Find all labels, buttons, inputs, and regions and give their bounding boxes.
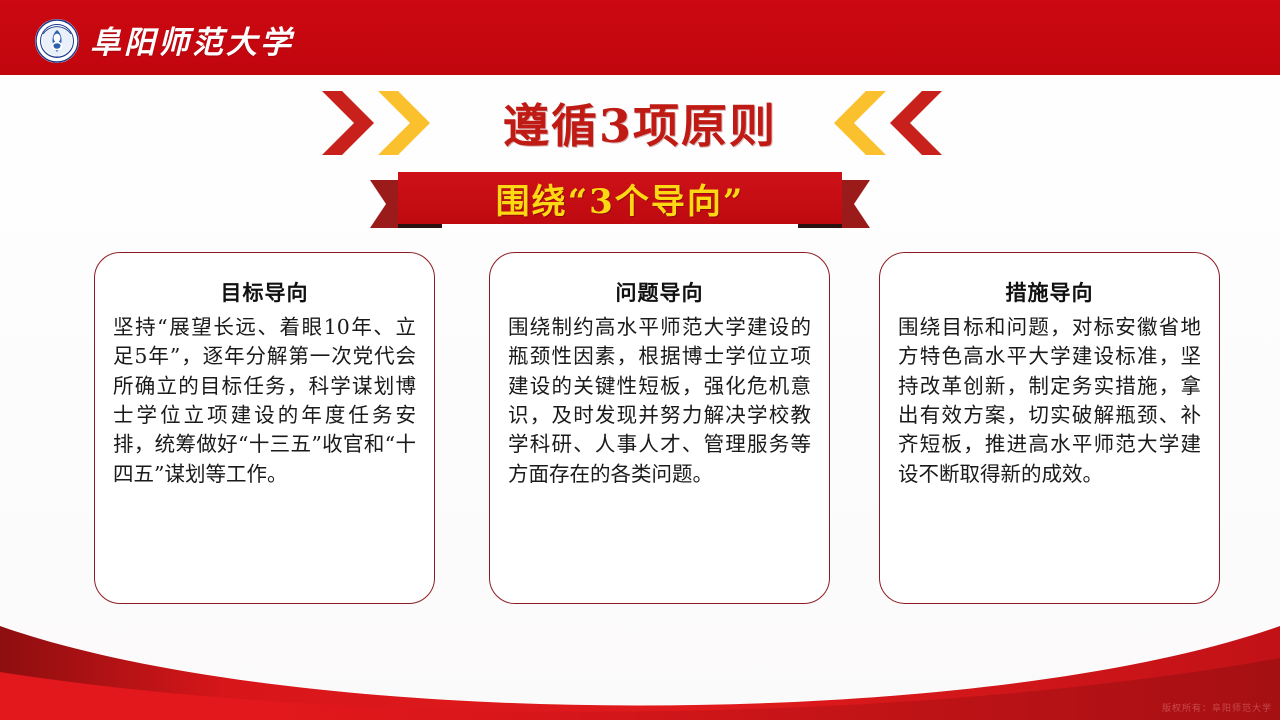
presentation-slide: 阜阳师范大学 [0,0,1280,720]
brand-name: 阜阳师范大学 [90,16,294,62]
footer-watermark: 版权所有：阜阳师范大学 [1162,701,1272,714]
card-problem-orientation: 问题导向 围绕制约高水平师范大学建设的瓶颈性因素，根据博士学位立项建设的关键性短… [489,252,830,604]
card-body: 坚持“展望长远、着眼10年、立足5年”，逐年分解第一次党代会所确立的目标任务，科… [111,313,418,489]
bottom-decoration: 版权所有：阜阳师范大学 [0,600,1280,720]
ribbon-label: 围绕“3个导向” [496,174,745,223]
card-body: 围绕制约高水平师范大学建设的瓶颈性因素，根据博士学位立项建设的关键性短板，强化危… [506,313,813,489]
card-title: 问题导向 [506,277,813,307]
ribbon-banner: 围绕“3个导向” [370,172,870,234]
card-body: 围绕目标和问题，对标安徽省地方特色高水平大学建设标准，坚持改革创新，制定务实措施… [896,313,1203,489]
university-seal-icon [34,18,80,64]
orientation-card-group: 目标导向 坚持“展望长远、着眼10年、立足5年”，逐年分解第一次党代会所确立的目… [0,252,1280,607]
title-row: 遵循3项原则 [0,85,1280,161]
card-measure-orientation: 措施导向 围绕目标和问题，对标安徽省地方特色高水平大学建设标准，坚持改革创新，制… [879,252,1220,604]
card-title: 目标导向 [111,277,418,307]
card-title: 措施导向 [896,277,1203,307]
page-title: 遵循3项原则 [0,85,1280,161]
ribbon-body: 围绕“3个导向” [398,172,842,224]
header-bar: 阜阳师范大学 [0,0,1280,75]
card-goal-orientation: 目标导向 坚持“展望长远、着眼10年、立足5年”，逐年分解第一次党代会所确立的目… [94,252,435,604]
